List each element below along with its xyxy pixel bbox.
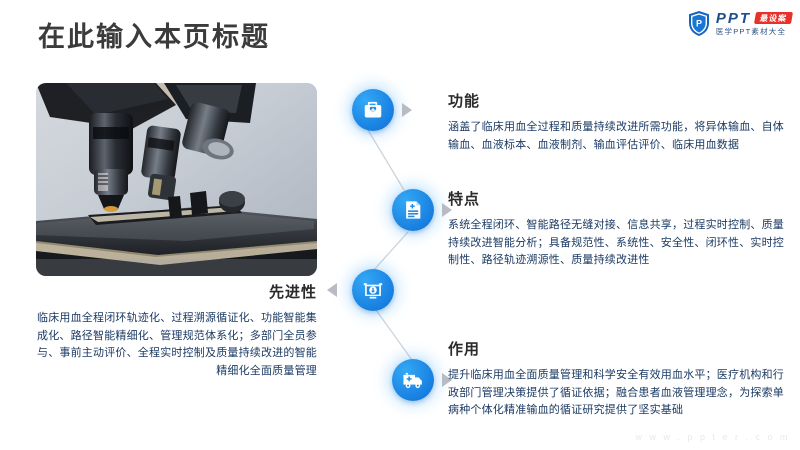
block-heading-xianjin: 先进性 [36, 283, 317, 303]
content-block-zuoyong: 作用 提升临床用血全面质量管理和科学安全有效用血水平；医疗机构和行政部门管理决策… [448, 340, 784, 420]
block-body-gongneng: 涵盖了临床用血全过程和质量持续改进所需功能，将异体输血、自体输血、血液标本、血液… [448, 119, 788, 154]
block-heading-zuoyong: 作用 [448, 340, 784, 360]
brand-logo: P PPT 最设案 医学PPT素材大全 [687, 8, 792, 38]
block-body-xianjin: 临床用血全程闭环轨迹化、过程溯源循证化、功能智能集成化、路径智能精细化、管理规范… [36, 310, 317, 380]
site-watermark: w w w . p p t e r . c o m [635, 432, 790, 442]
node-icon-xianjin[interactable] [352, 269, 394, 311]
content-block-gongneng: 功能 涵盖了临床用血全过程和质量持续改进所需功能，将异体输血、自体输血、血液标本… [448, 92, 788, 154]
logo-brand-text: PPT [716, 11, 751, 26]
microscope-photo [36, 83, 317, 276]
medical-kit-icon [362, 99, 384, 121]
block-body-zuoyong: 提升临床用血全面质量管理和科学安全有效用血水平；医疗机构和行政部门管理决策提供了… [448, 367, 784, 420]
shield-icon: P [687, 10, 711, 37]
svg-text:P: P [696, 18, 702, 28]
node-icon-gongneng[interactable] [352, 89, 394, 131]
monitor-download-icon [362, 279, 384, 301]
ambulance-icon [402, 369, 424, 391]
node-icon-tedian[interactable] [392, 189, 434, 231]
slide-canvas: 在此输入本页标题 P PPT 最设案 医学PPT素材大全 [0, 0, 800, 450]
block-heading-tedian: 特点 [448, 190, 784, 210]
content-block-xianjin: 先进性 临床用血全程闭环轨迹化、过程溯源循证化、功能智能集成化、路径智能精细化、… [36, 283, 317, 380]
block-body-tedian: 系统全程闭环、智能路径无缝对接、信息共享，过程实时控制、质量持续改进智能分析；具… [448, 217, 784, 270]
content-block-tedian: 特点 系统全程闭环、智能路径无缝对接、信息共享，过程实时控制、质量持续改进智能分… [448, 190, 784, 270]
medical-report-icon [402, 199, 424, 221]
arrow-marker-xianjin [327, 283, 337, 297]
logo-subtitle: 医学PPT素材大全 [716, 27, 792, 36]
logo-badge: 最设案 [754, 12, 793, 24]
microscope-illustration [36, 83, 317, 276]
node-icon-zuoyong[interactable] [392, 359, 434, 401]
page-title: 在此输入本页标题 [38, 18, 270, 56]
arrow-marker-gongneng [402, 103, 412, 117]
block-heading-gongneng: 功能 [448, 92, 788, 112]
